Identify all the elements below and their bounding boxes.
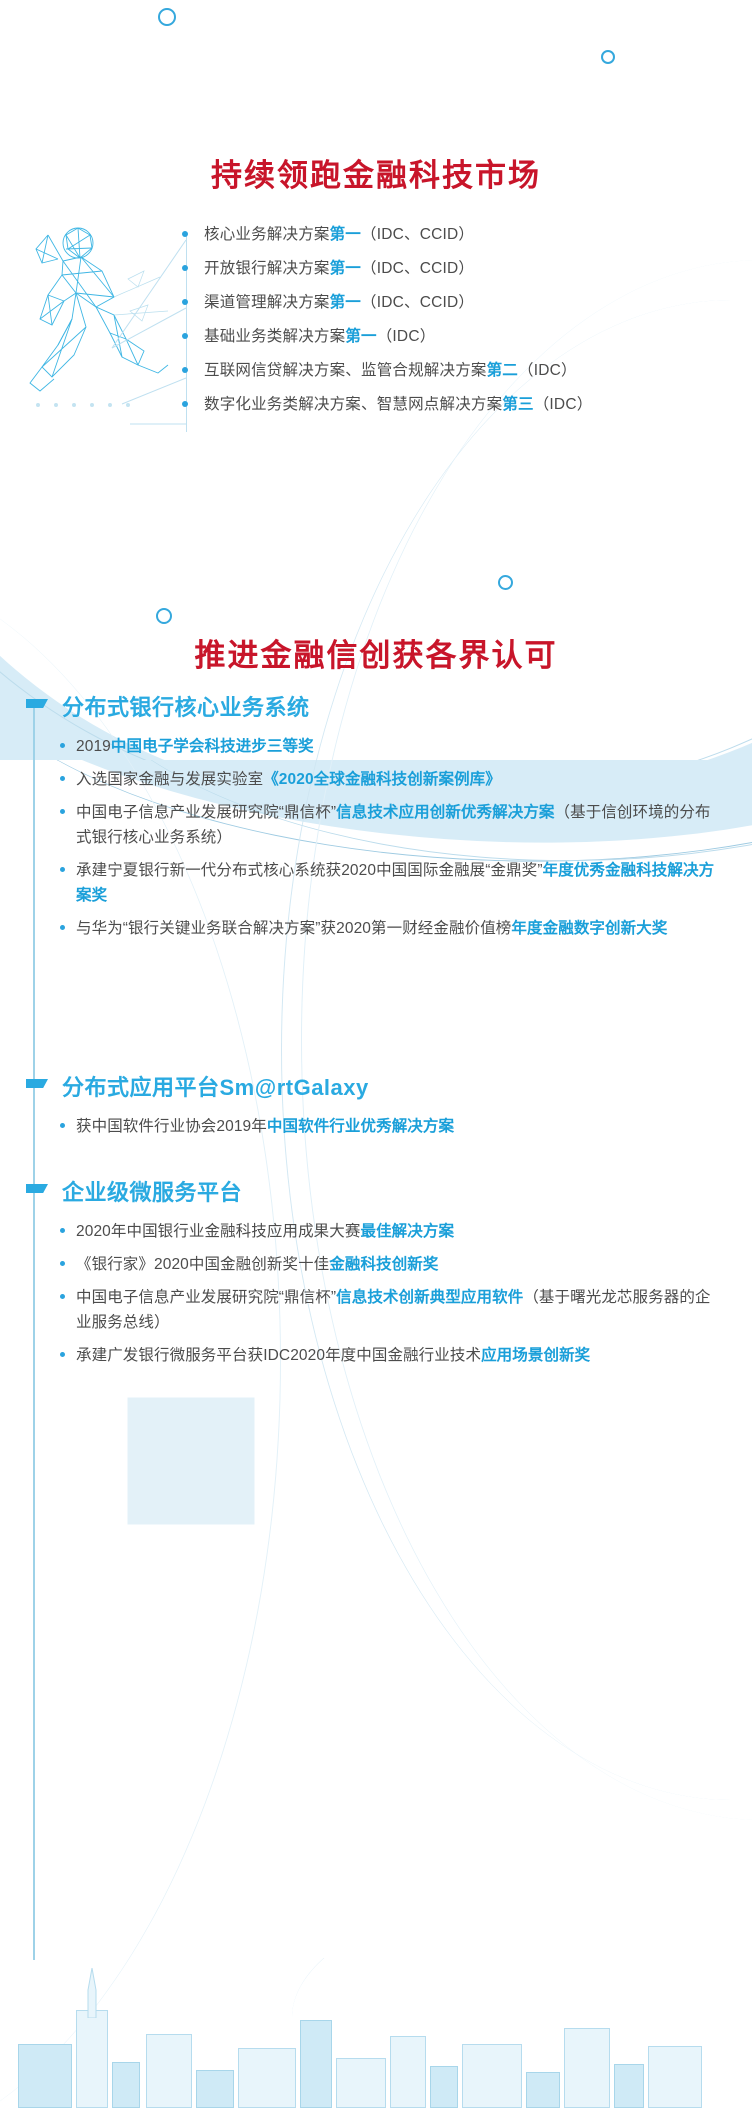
bottom-arc-decoration bbox=[292, 1958, 752, 2108]
group-heading-label: 企业级微服务平台 bbox=[62, 1180, 242, 1205]
group-list-item: 获中国软件行业协会2019年中国软件行业优秀解决方案 bbox=[26, 1114, 726, 1139]
section1-list-item: 基础业务类解决方案第一（IDC） bbox=[178, 324, 738, 349]
bullet-dot-icon bbox=[60, 743, 65, 748]
item-text: 获中国软件行业协会2019年 bbox=[76, 1118, 267, 1135]
bullet-dot-icon bbox=[182, 401, 188, 407]
flag-marker-icon bbox=[26, 1184, 48, 1193]
item-rank: 第一 bbox=[330, 260, 361, 277]
tower-spire-icon bbox=[78, 1968, 106, 2018]
section2-group: 分布式应用平台Sm@rtGalaxy获中国软件行业协会2019年中国软件行业优秀… bbox=[26, 1070, 726, 1147]
section1-list-item: 数字化业务类解决方案、智慧网点解决方案第三（IDC） bbox=[178, 392, 738, 417]
award-highlight: 中国软件行业优秀解决方案 bbox=[267, 1118, 454, 1135]
bullet-dot-icon bbox=[182, 299, 188, 305]
group-list-item: 2019中国电子学会科技进步三等奖 bbox=[26, 734, 726, 759]
bullet-dot-icon bbox=[60, 776, 65, 781]
bullet-dot-icon bbox=[60, 1261, 65, 1266]
bullet-dot-icon bbox=[182, 231, 188, 237]
bullet-dot-icon bbox=[60, 1123, 65, 1128]
group-list-item: 承建广发银行微服务平台获IDC2020年度中国金融行业技术应用场景创新奖 bbox=[26, 1343, 726, 1368]
section1-title: 持续领跑金融科技市场 bbox=[0, 150, 752, 195]
item-rank: 第一 bbox=[330, 294, 361, 311]
item-text: 2019 bbox=[76, 738, 111, 755]
item-text: 承建广发银行微服务平台获IDC2020年度中国金融行业技术 bbox=[76, 1347, 481, 1364]
group-heading: 分布式银行核心业务系统 bbox=[26, 690, 726, 722]
group-list-item: 承建宁夏银行新一代分布式核心系统获2020中国国际金融展“金鼎奖”年度优秀金融科… bbox=[26, 858, 726, 908]
bullet-dot-icon bbox=[182, 367, 188, 373]
bullet-dot-icon bbox=[60, 867, 65, 872]
award-highlight: 应用场景创新奖 bbox=[481, 1347, 590, 1364]
award-highlight: 信息技术应用创新优秀解决方案 bbox=[336, 804, 554, 821]
flag-marker-icon bbox=[26, 1079, 48, 1088]
city-skyline-illustration bbox=[0, 1958, 752, 2108]
group-list-item: 2020年中国银行业金融科技应用成果大赛最佳解决方案 bbox=[26, 1219, 726, 1244]
decorative-ring-icon bbox=[601, 50, 615, 64]
group-heading: 分布式应用平台Sm@rtGalaxy bbox=[26, 1070, 726, 1102]
group-list-item: 中国电子信息产业发展研究院“鼎信杯”信息技术创新典型应用软件（基于曙光龙芯服务器… bbox=[26, 1285, 726, 1335]
award-highlight: 最佳解决方案 bbox=[360, 1223, 454, 1240]
section1-list: 核心业务解决方案第一（IDC、CCID）开放银行解决方案第一（IDC、CCID）… bbox=[178, 222, 738, 426]
award-highlight: 《2020全球金融科技创新案例库》 bbox=[263, 771, 501, 788]
item-text: 互联网信贷解决方案、监管合规解决方案 bbox=[204, 362, 487, 379]
item-text: 中国电子信息产业发展研究院“鼎信杯” bbox=[76, 804, 336, 821]
item-text: 基础业务类解决方案 bbox=[204, 328, 345, 345]
item-text: 与华为“银行关键业务联合解决方案”获2020第一财经金融价值榜 bbox=[76, 920, 511, 937]
item-source: （IDC） bbox=[534, 396, 593, 413]
bullet-dot-icon bbox=[60, 1352, 65, 1357]
group-list-item: 《银行家》2020中国金融创新奖十佳金融科技创新奖 bbox=[26, 1252, 726, 1277]
item-rank: 第三 bbox=[502, 396, 533, 413]
item-text: 2020年中国银行业金融科技应用成果大赛 bbox=[76, 1223, 360, 1240]
item-source: （IDC、CCID） bbox=[361, 226, 474, 243]
group-list-item: 与华为“银行关键业务联合解决方案”获2020第一财经金融价值榜年度金融数字创新大… bbox=[26, 916, 726, 941]
item-text: 核心业务解决方案 bbox=[204, 226, 330, 243]
award-highlight: 中国电子学会科技进步三等奖 bbox=[111, 738, 314, 755]
decorative-ring-icon bbox=[156, 608, 172, 624]
award-highlight: 金融科技创新奖 bbox=[329, 1256, 438, 1273]
item-text: 入选国家金融与发展实验室 bbox=[76, 771, 263, 788]
bullet-dot-icon bbox=[60, 1228, 65, 1233]
item-rank: 第一 bbox=[330, 226, 361, 243]
group-list-item: 入选国家金融与发展实验室《2020全球金融科技创新案例库》 bbox=[26, 767, 726, 792]
award-highlight: 信息技术创新典型应用软件 bbox=[336, 1289, 523, 1306]
item-rank: 第一 bbox=[345, 328, 376, 345]
item-source: （IDC） bbox=[518, 362, 577, 379]
item-text: 开放银行解决方案 bbox=[204, 260, 330, 277]
item-source: （IDC、CCID） bbox=[361, 294, 474, 311]
bullet-dot-icon bbox=[60, 1294, 65, 1299]
item-text: 中国电子信息产业发展研究院“鼎信杯” bbox=[76, 1289, 336, 1306]
decorative-ring-icon bbox=[158, 8, 176, 26]
item-rank: 第二 bbox=[487, 362, 518, 379]
bullet-dot-icon bbox=[182, 265, 188, 271]
group-heading-label: 分布式应用平台Sm@rtGalaxy bbox=[62, 1075, 369, 1100]
item-text: 承建宁夏银行新一代分布式核心系统获2020中国国际金融展“金鼎奖” bbox=[76, 862, 543, 879]
bullet-dot-icon bbox=[60, 925, 65, 930]
bullet-dot-icon bbox=[60, 809, 65, 814]
section1-list-item: 互联网信贷解决方案、监管合规解决方案第二（IDC） bbox=[178, 358, 738, 383]
item-source: （IDC） bbox=[377, 328, 436, 345]
section2-group: 分布式银行核心业务系统2019中国电子学会科技进步三等奖入选国家金融与发展实验室… bbox=[26, 690, 726, 949]
poster-canvas: 持续领跑金融科技市场 bbox=[0, 0, 752, 2108]
group-list-item: 中国电子信息产业发展研究院“鼎信杯”信息技术应用创新优秀解决方案（基于信创环境的… bbox=[26, 800, 726, 850]
section1-list-item: 核心业务解决方案第一（IDC、CCID） bbox=[178, 222, 738, 247]
item-text: 《银行家》2020中国金融创新奖十佳 bbox=[76, 1256, 329, 1273]
section2-title: 推进金融信创获各界认可 bbox=[0, 630, 752, 675]
flag-marker-icon bbox=[26, 699, 48, 708]
section2-group: 企业级微服务平台2020年中国银行业金融科技应用成果大赛最佳解决方案《银行家》2… bbox=[26, 1175, 726, 1376]
bullet-dot-icon bbox=[182, 333, 188, 339]
group-heading-label: 分布式银行核心业务系统 bbox=[62, 695, 310, 720]
group-heading: 企业级微服务平台 bbox=[26, 1175, 726, 1207]
section1-list-item: 开放银行解决方案第一（IDC、CCID） bbox=[178, 256, 738, 281]
section1-list-item: 渠道管理解决方案第一（IDC、CCID） bbox=[178, 290, 738, 315]
item-text: 渠道管理解决方案 bbox=[204, 294, 330, 311]
item-text: 数字化业务类解决方案、智慧网点解决方案 bbox=[204, 396, 502, 413]
item-source: （IDC、CCID） bbox=[361, 260, 474, 277]
award-highlight: 年度金融数字创新大奖 bbox=[511, 920, 667, 937]
